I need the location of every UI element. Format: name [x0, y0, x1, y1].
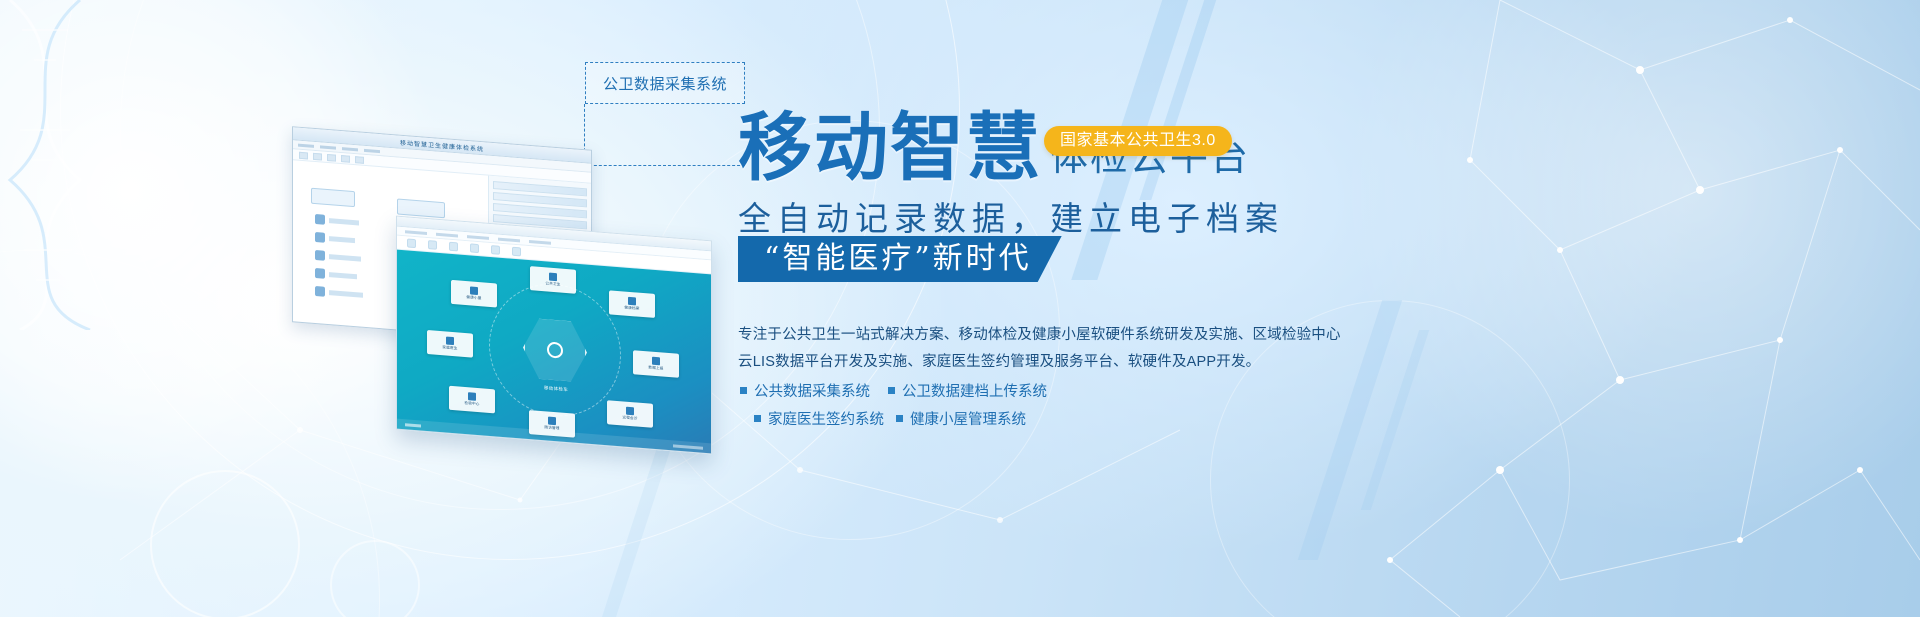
feature-item-public-health-archive-upload[interactable]: 公卫数据建档上传系统 — [888, 376, 1047, 404]
banner-copy: 移动智慧 体检云平台 国家基本公共卫生3.0 全自动记录数据，建立电子档案 “智… — [738, 0, 1918, 617]
feature-card: 健康档案 — [609, 290, 655, 318]
toolbar-icon — [428, 240, 437, 250]
toolbar-icon — [299, 152, 308, 160]
feature-card-label: 健康小屋 — [466, 295, 481, 301]
callout-connector-line — [584, 104, 745, 166]
nav-item — [467, 235, 489, 240]
device-icon — [315, 214, 325, 225]
feature-card-label: 远程会诊 — [622, 415, 637, 421]
nav-item — [529, 240, 551, 245]
feature-card: 检验中心 — [449, 386, 495, 414]
feature-item-family-doctor-contract[interactable]: 家庭医生签约系统 — [740, 404, 884, 432]
nav-item — [436, 232, 458, 237]
toolbar-icon — [512, 247, 521, 257]
bullet-icon — [896, 415, 903, 422]
feature-label: 家庭医生签约系统 — [768, 408, 884, 429]
device-icon — [315, 268, 325, 279]
callout-box: 公卫数据采集系统 — [585, 62, 745, 104]
toolbar-icon — [341, 155, 350, 163]
menu-item — [298, 143, 314, 147]
product-screenshot-dashboard: 移动体检车 公共卫生 健康档案 数据上报 远程会诊 随访管理 检验中心 家庭医生… — [396, 216, 712, 455]
feature-card: 家庭医生 — [427, 330, 473, 358]
feature-card-label: 公共卫生 — [545, 281, 560, 287]
toolbar-icon — [327, 154, 336, 162]
feature-card: 数据上报 — [633, 350, 679, 378]
feature-label: 公共数据采集系统 — [754, 380, 870, 401]
diagram-label — [329, 236, 355, 243]
bullet-icon — [888, 387, 895, 394]
diagram-label — [329, 254, 361, 262]
slogan-ribbon: “智能医疗”新时代 — [738, 236, 1062, 282]
device-icon — [315, 286, 325, 297]
menu-item — [364, 148, 380, 152]
nav-item — [405, 230, 427, 235]
dna-helix-icon — [0, 0, 140, 330]
diagram-label — [329, 218, 359, 225]
description-line-2: 云LIS数据平台开发及实施、家庭医生签约管理及服务平台、软硬件及APP开发。 — [738, 349, 1318, 376]
description-paragraph: 专注于公共卫生一站式解决方案、移动体检及健康小屋软硬件系统研发及实施、区域检验中… — [738, 322, 1318, 376]
toolbar-icon — [470, 243, 479, 253]
toolbar-icon — [491, 245, 500, 255]
toolbar-icon — [449, 242, 458, 252]
feature-item-health-cabin-management[interactable]: 健康小屋管理系统 — [888, 404, 1047, 432]
screenshot-b-canvas: 移动体检车 公共卫生 健康档案 数据上报 远程会诊 随访管理 检验中心 家庭医生… — [397, 250, 711, 455]
feature-card-label: 健康档案 — [624, 306, 639, 312]
ring-decor-1 — [150, 470, 300, 617]
promo-banner: 公卫数据采集系统 移动智慧卫生健康体检系统 — [0, 0, 1920, 617]
feature-item-public-data-collection[interactable]: 公共数据采集系统 — [740, 376, 884, 404]
bullet-icon — [740, 387, 747, 394]
feature-column-1: 公共数据采集系统 家庭医生签约系统 — [740, 376, 884, 432]
callout-label: 公卫数据采集系统 — [603, 73, 727, 94]
feature-card: 公共卫生 — [530, 266, 576, 294]
nav-item — [498, 237, 520, 242]
toolbar-icon — [355, 156, 364, 164]
headline-row: 移动智慧 体检云平台 国家基本公共卫生3.0 — [738, 110, 1250, 186]
feature-label: 公卫数据建档上传系统 — [902, 380, 1047, 401]
toolbar-icon — [407, 238, 416, 248]
device-icon — [315, 232, 325, 243]
device-icon — [315, 250, 325, 261]
headline-subline: 全自动记录数据，建立电子档案 — [738, 192, 1284, 240]
diagram-node — [311, 188, 355, 207]
toolbar-icon — [313, 153, 322, 161]
status-badge: 国家基本公共卫生3.0 — [1044, 126, 1232, 156]
ring-decor-2 — [330, 540, 420, 617]
feature-card: 远程会诊 — [607, 400, 653, 428]
feature-label: 健康小屋管理系统 — [910, 408, 1026, 429]
diagram-label — [329, 290, 363, 298]
feature-card: 健康小屋 — [451, 280, 497, 308]
feature-card-label: 检验中心 — [464, 401, 479, 407]
menu-item — [342, 147, 358, 151]
feature-column-2: 公卫数据建档上传系统 健康小屋管理系统 — [888, 376, 1047, 432]
menu-item — [320, 145, 336, 149]
bullet-icon — [754, 415, 761, 422]
headline-main: 移动智慧 — [738, 110, 1042, 186]
feature-card-label: 家庭医生 — [442, 345, 457, 351]
feature-card-label: 数据上报 — [648, 365, 663, 371]
description-line-1: 专注于公共卫生一站式解决方案、移动体检及健康小屋软硬件系统研发及实施、区域检验中… — [738, 322, 1318, 349]
diagram-label — [329, 272, 357, 279]
